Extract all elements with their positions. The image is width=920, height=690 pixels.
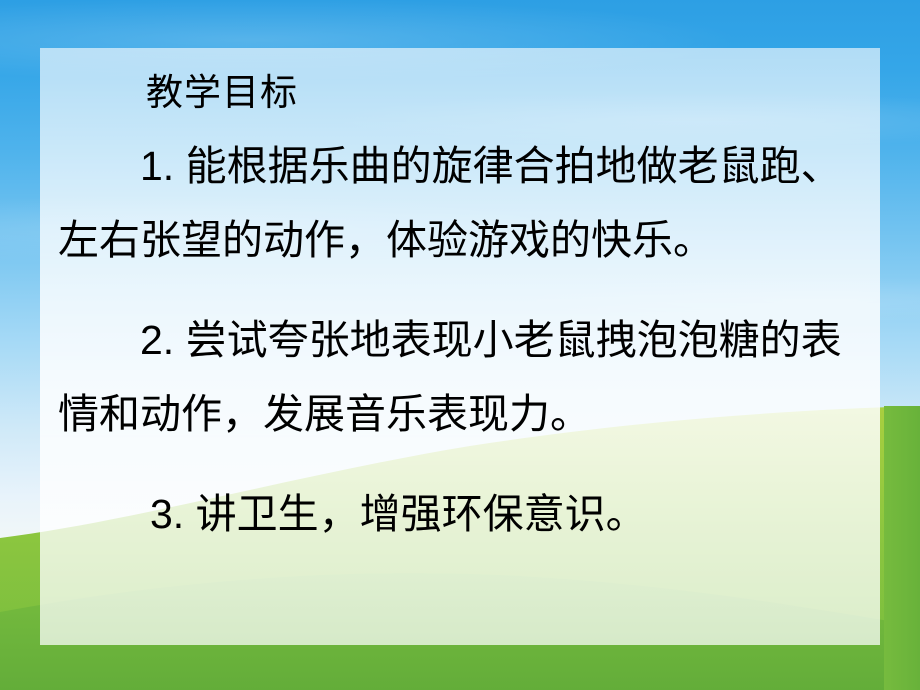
content-panel: 教学目标 1. 能根据乐曲的旋律合拍地做老鼠跑、左右张望的动作，体验游戏的快乐。… (40, 48, 880, 645)
slide-canvas: 教学目标 1. 能根据乐曲的旋律合拍地做老鼠跑、左右张望的动作，体验游戏的快乐。… (0, 0, 920, 690)
objectives-list: 1. 能根据乐曲的旋律合拍地做老鼠跑、左右张望的动作，体验游戏的快乐。 2. 尝… (58, 129, 862, 551)
objective-item-1: 1. 能根据乐曲的旋律合拍地做老鼠跑、左右张望的动作，体验游戏的快乐。 (58, 129, 862, 277)
page-title: 教学目标 (58, 74, 862, 111)
objective-item-2: 2. 尝试夸张地表现小老鼠拽泡泡糖的表情和动作，发展音乐表现力。 (58, 303, 862, 451)
objective-item-3: 3. 讲卫生，增强环保意识。 (58, 477, 862, 551)
